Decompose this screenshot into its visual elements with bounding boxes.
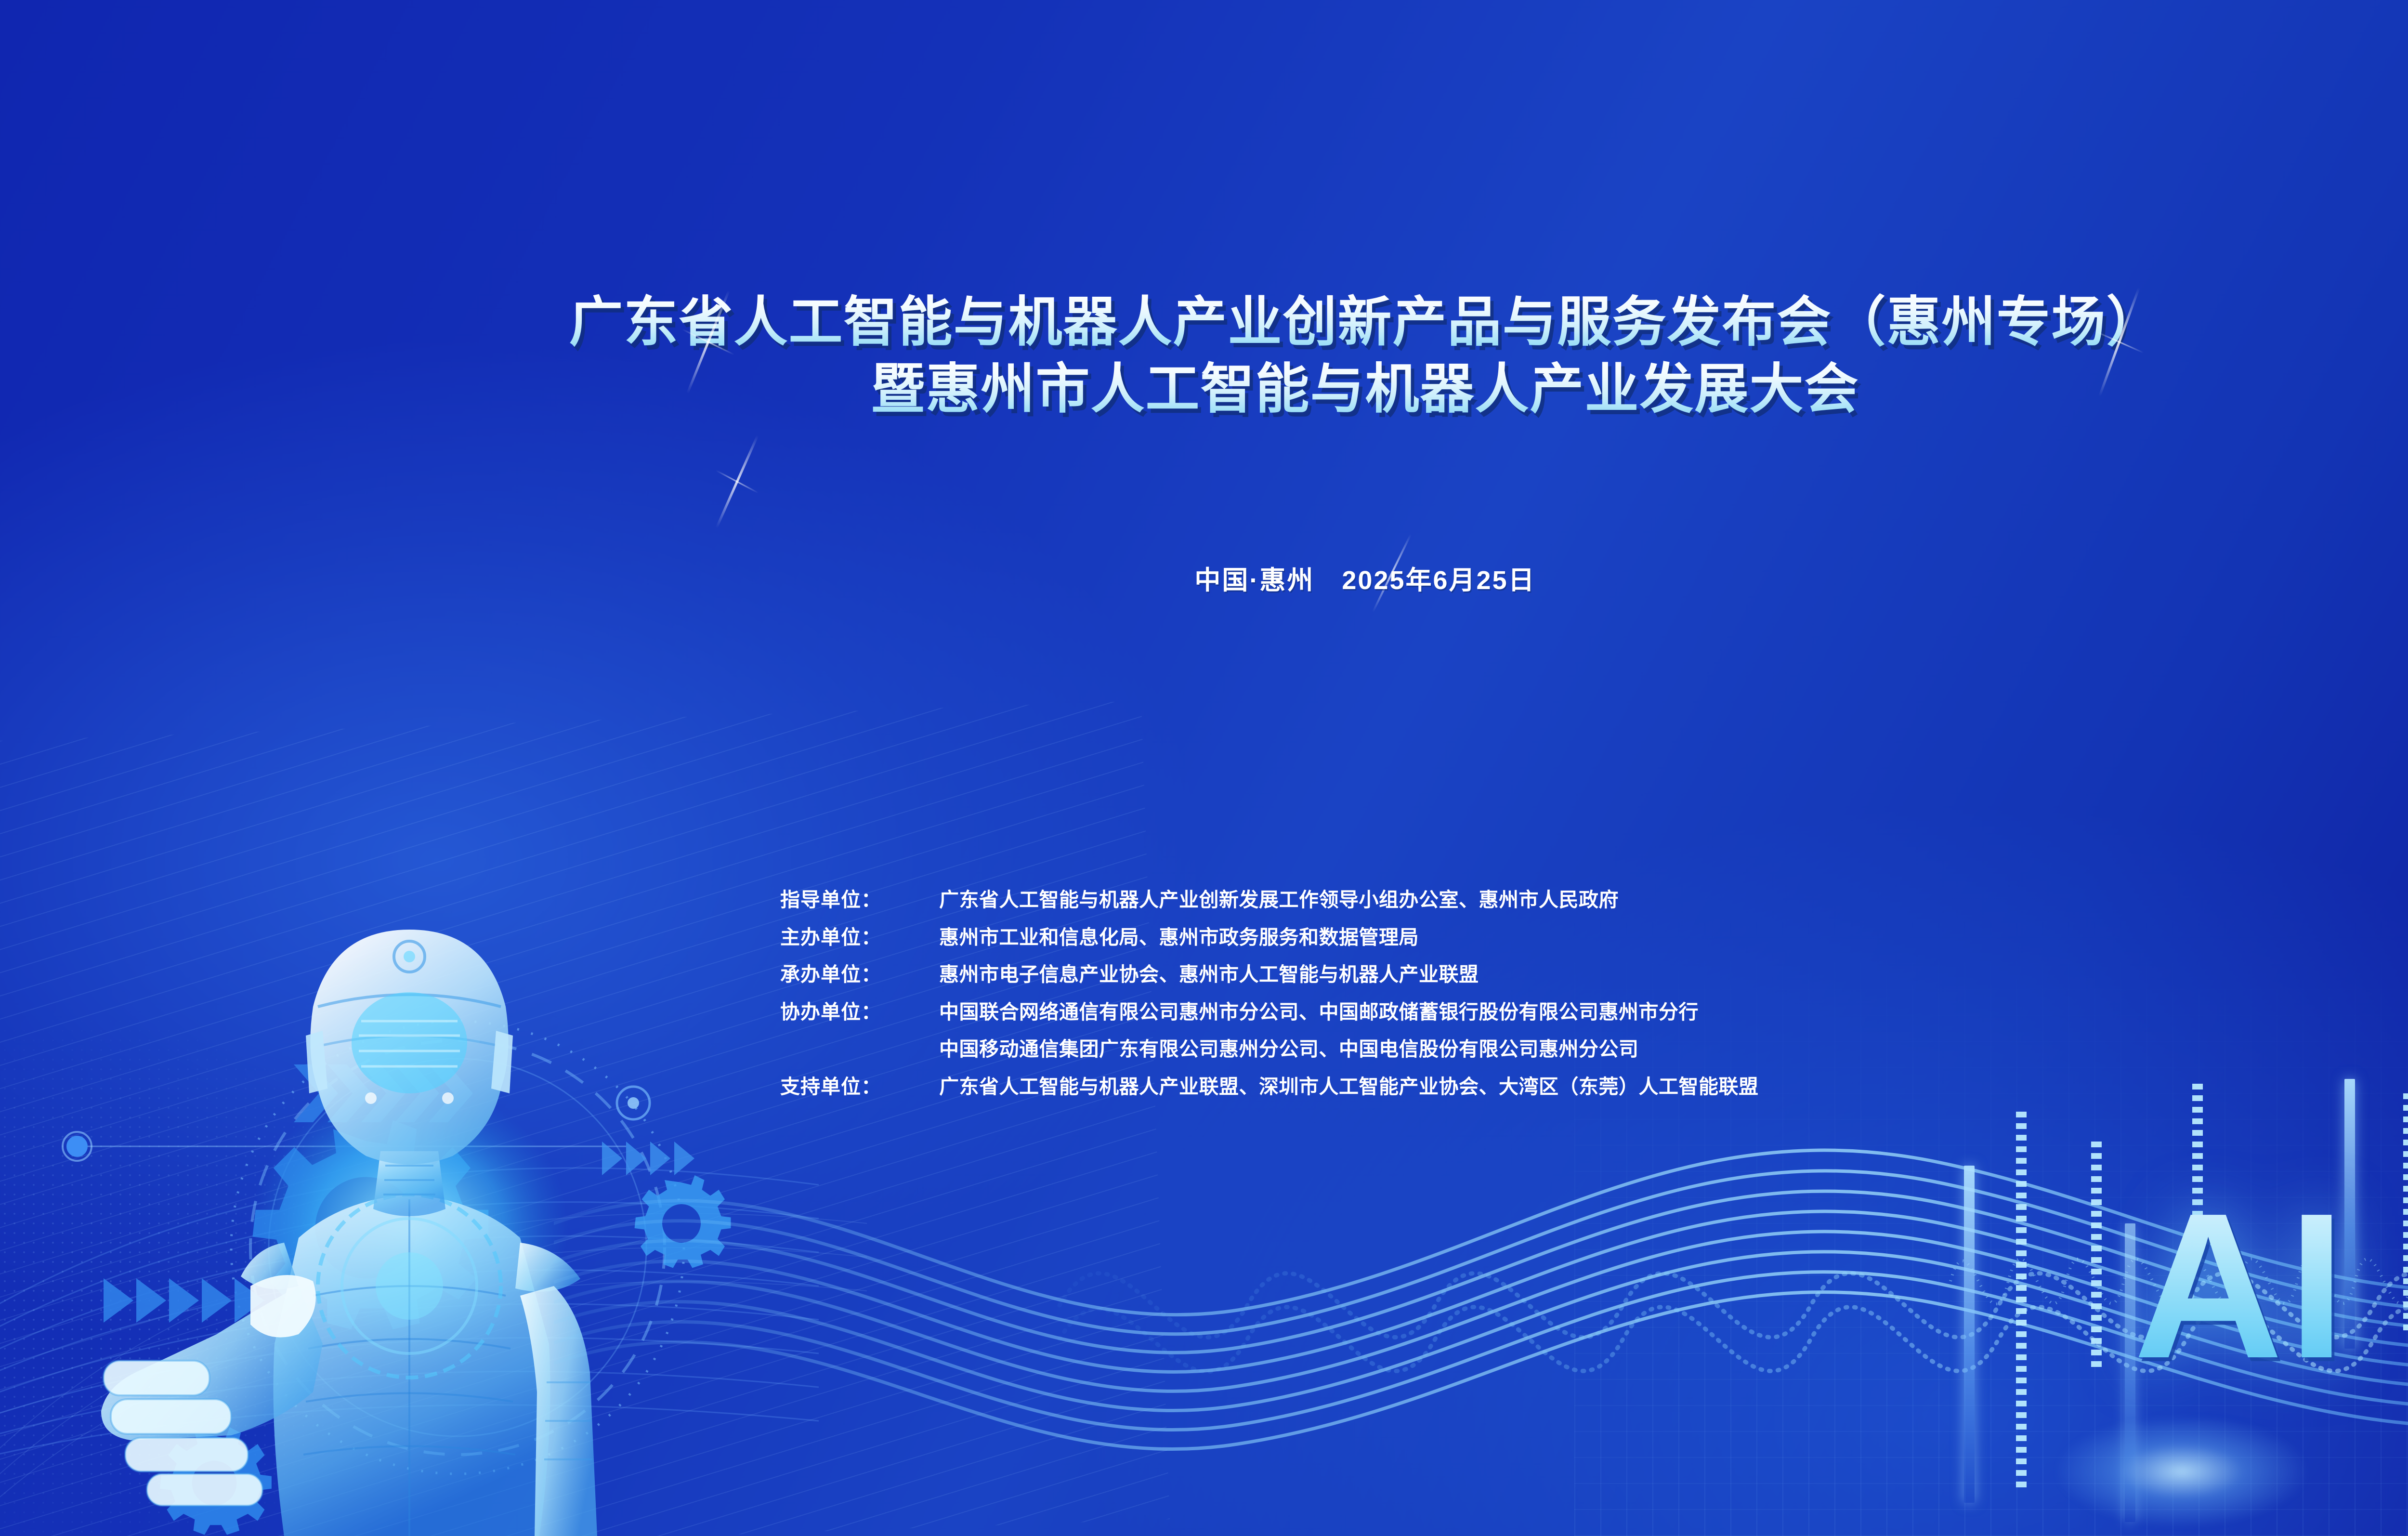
ai-wordmark: AI [2133,1182,2403,1452]
background-decor-layer [0,0,2408,1536]
gear-icon [144,1416,284,1536]
gear-icon [621,1166,742,1286]
headline-block: 广东省人工智能与机器人产业创新产品与服务发布会（惠州专场） 暨惠州市人工智能与机… [0,289,2408,423]
humanoid-robot-figure [72,862,727,1536]
sparkle-icon [2398,424,2408,520]
organizer-value: 中国移动通信集团广东有限公司惠州分公司、中国电信股份有限公司惠州分公司 [939,1035,1639,1064]
organizer-row: 指导单位： 广东省人工智能与机器人产业创新发展工作领导小组办公室、惠州市人民政府 [780,885,1759,915]
chevron-arrows-icon [602,1137,727,1180]
organizer-value: 广东省人工智能与机器人产业创新发展工作领导小组办公室、惠州市人民政府 [939,885,1619,915]
ai-wordmark-text: AI [2133,1182,2403,1390]
chevron-arrows-icon [104,1272,306,1329]
organizer-label: 指导单位： [780,885,939,915]
organizer-list: 指导单位： 广东省人工智能与机器人产业创新发展工作领导小组办公室、惠州市人民政府… [780,885,1759,1109]
organizer-label: 支持单位： [780,1072,939,1102]
gear-icon [217,1093,515,1392]
diagonal-lines-pattern [0,701,1170,1536]
node-line-decor [58,1098,636,1195]
event-subtitle: 中国·惠州 2025年6月25日 [0,559,2408,597]
dot-mesh-pattern [0,891,665,1536]
organizer-value: 广东省人工智能与机器人产业联盟、深圳市人工智能产业协会、大湾区（东莞）人工智能联… [939,1072,1759,1102]
organizer-row-continuation: 协办单位： 中国移动通信集团广东有限公司惠州分公司、中国电信股份有限公司惠州分公… [780,1035,1759,1064]
tech-ring-decor [120,930,766,1536]
organizer-label: 主办单位： [780,923,939,953]
audio-waveform-graphic [554,1050,2408,1536]
organizer-label: 协办单位： [780,998,939,1027]
organizer-row: 主办单位： 惠州市工业和信息化局、惠州市政务服务和数据管理局 [780,923,1759,953]
sparkle-icon [689,433,785,530]
headline-line-2: 暨惠州市人工智能与机器人产业发展大会 [0,356,2408,423]
organizer-row: 支持单位： 广东省人工智能与机器人产业联盟、深圳市人工智能产业协会、大湾区（东莞… [780,1072,1759,1102]
arc-fan-pattern [0,722,1011,1536]
organizer-row: 协办单位： 中国联合网络通信有限公司惠州市分公司、中国邮政储蓄银行股份有限公司惠… [780,998,1759,1027]
organizer-value: 惠州市电子信息产业协会、惠州市人工智能与机器人产业联盟 [939,960,1479,990]
organizer-row: 承办单位： 惠州市电子信息产业协会、惠州市人工智能与机器人产业联盟 [780,960,1759,990]
chevron-arrows-icon [294,1060,544,1132]
organizer-value: 惠州市工业和信息化局、惠州市政务服务和数据管理局 [939,923,1419,953]
headline-line-1: 广东省人工智能与机器人产业创新产品与服务发布会（惠州专场） [0,289,2408,356]
organizer-label: 承办单位： [780,960,939,990]
poster-canvas: AI 广东省人工智能与机器人产业创新产品与服务发布会（惠州专场） 暨惠州市人工智… [0,0,2408,1536]
organizer-value: 中国联合网络通信有限公司惠州市分公司、中国邮政储蓄银行股份有限公司惠州市分行 [939,998,1699,1027]
